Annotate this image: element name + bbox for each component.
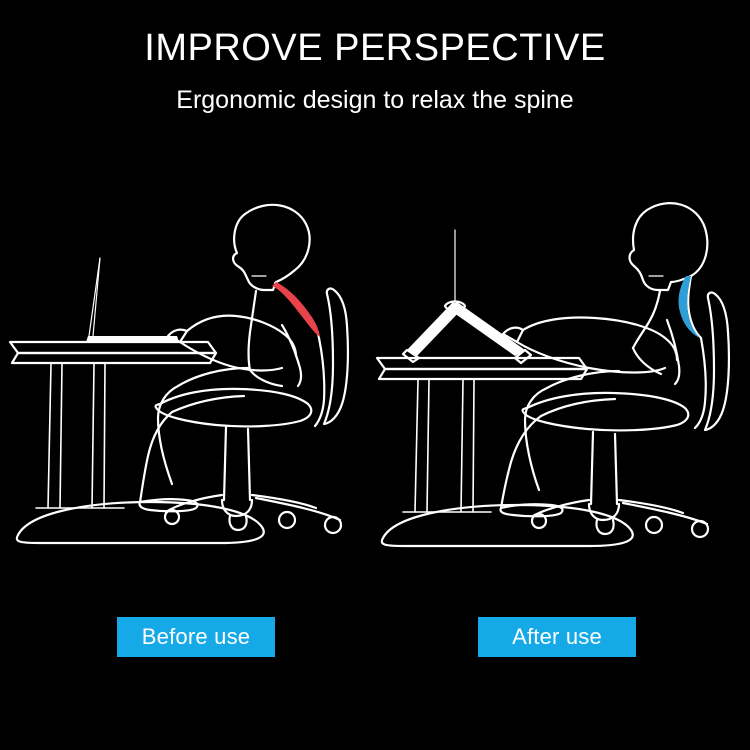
desk-leg-2 — [60, 364, 62, 508]
chair-column — [224, 427, 250, 500]
desk-leg-1 — [415, 380, 418, 512]
castor-stem-center — [596, 520, 613, 534]
illustration-panels — [0, 190, 750, 600]
castor-3 — [692, 521, 708, 537]
desk-leg-2 — [427, 380, 429, 512]
figure-chest — [250, 370, 282, 386]
figure-torso-front — [249, 291, 257, 370]
figure-thigh-bottom — [541, 399, 615, 416]
figure-head — [630, 203, 708, 290]
page-title: IMPROVE PERSPECTIVE — [0, 0, 750, 70]
figure-head — [233, 205, 310, 290]
desk-top-edge — [379, 369, 587, 379]
chair-seat — [156, 389, 312, 427]
figure-thigh-bottom — [172, 396, 244, 412]
castor-2 — [279, 512, 295, 528]
heading-block: IMPROVE PERSPECTIVE Ergonomic design to … — [0, 0, 750, 115]
figure-forearm — [187, 316, 296, 356]
desk-top — [10, 342, 216, 353]
desk-leg-4 — [104, 364, 105, 508]
desk-leg-3 — [461, 380, 463, 512]
figure-neck-front — [633, 291, 660, 348]
desk-leg-4 — [473, 380, 474, 512]
figure-back — [315, 338, 324, 426]
figure-back — [695, 338, 706, 428]
desk-leg-3 — [92, 364, 94, 508]
chair-backrest — [705, 293, 729, 430]
desk-leg-1 — [48, 364, 51, 508]
after-use-illustration — [375, 190, 750, 600]
page-root: IMPROVE PERSPECTIVE Ergonomic design to … — [0, 0, 750, 750]
label-buttons: Before use After use — [0, 617, 750, 659]
figure-thigh-top — [178, 368, 248, 386]
page-subtitle: Ergonomic design to relax the spine — [0, 70, 750, 115]
chair-base-arm-far-right — [623, 503, 707, 524]
desk-top-edge — [12, 353, 216, 363]
floor-mat — [382, 505, 633, 546]
castor-stem-center — [229, 516, 246, 530]
chair-column — [591, 432, 617, 504]
figure-shin — [501, 416, 541, 508]
figure-upper-arm — [667, 320, 679, 384]
figure-shin — [140, 412, 172, 502]
castor-3 — [325, 517, 341, 533]
after-use-button[interactable]: After use — [478, 617, 636, 657]
chair-base-arm-right — [619, 500, 683, 513]
castor-2 — [646, 517, 662, 533]
laptop-base — [86, 336, 179, 342]
chair-backrest — [324, 289, 348, 424]
figure-forearm-lower — [180, 342, 282, 370]
chair-base-arm-far-right — [256, 498, 340, 520]
before-use-button[interactable]: Before use — [117, 617, 275, 657]
neck-strain-highlight — [272, 282, 320, 337]
figure-forearm — [523, 318, 677, 361]
before-use-illustration — [0, 190, 375, 600]
chair-base-arm-right — [252, 495, 316, 508]
